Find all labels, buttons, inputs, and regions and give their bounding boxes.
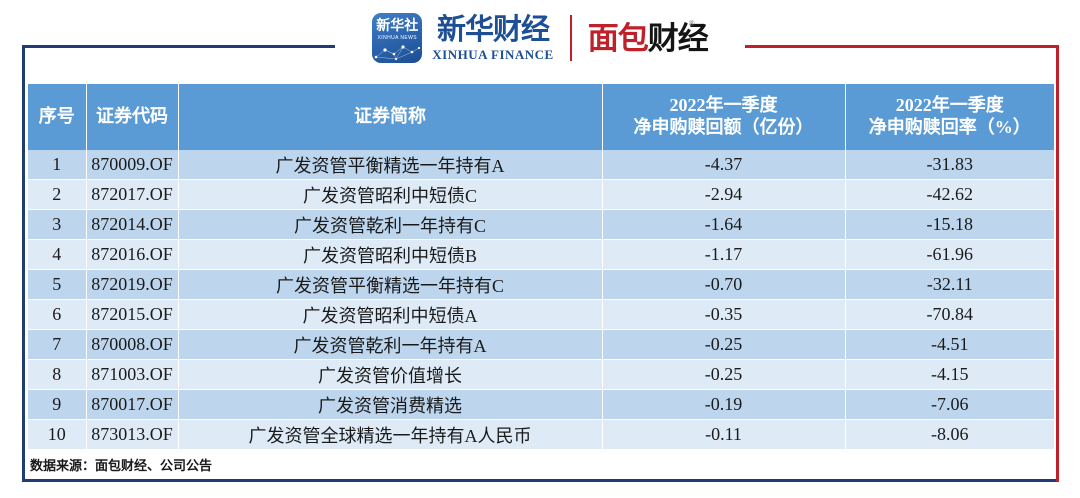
cell-code: 872019.OF — [86, 270, 178, 300]
table-row: 9 870017.OF 广发资管消费精选 -0.19 -7.06 — [28, 390, 1054, 420]
cell-amount: -4.37 — [602, 150, 845, 180]
cell-seq: 4 — [28, 240, 86, 270]
masthead: 新华社 XINHUA NEWS 新 — [335, 4, 745, 72]
cell-amount: -0.11 — [602, 420, 845, 450]
cell-amount: -0.19 — [602, 390, 845, 420]
table-header-row: 序号 证券代码 证券简称 2022年一季度 净申购赎回额（亿份） 2022年一季… — [28, 84, 1054, 150]
cell-amount: -1.17 — [602, 240, 845, 270]
cell-seq: 5 — [28, 270, 86, 300]
cell-seq: 8 — [28, 360, 86, 390]
column-header-rate-line1: 2022年一季度 — [848, 95, 1053, 117]
table-row: 10 873013.OF 广发资管全球精选一年持有A人民币 -0.11 -8.0… — [28, 420, 1054, 450]
mianbao-logo-black-label: 财经 — [648, 21, 708, 56]
xinhua-news-badge-icon: 新华社 XINHUA NEWS — [372, 13, 422, 63]
cell-name: 广发资管平衡精选一年持有C — [178, 270, 602, 300]
cell-rate: -31.83 — [845, 150, 1054, 180]
column-header-code: 证券代码 — [86, 84, 178, 150]
cell-rate: -8.06 — [845, 420, 1054, 450]
cell-amount: -0.35 — [602, 300, 845, 330]
cell-code: 872014.OF — [86, 210, 178, 240]
cell-amount: -0.70 — [602, 270, 845, 300]
frame-line-top-right — [744, 45, 1059, 48]
cell-name: 广发资管乾利一年持有C — [178, 210, 602, 240]
cell-code: 871003.OF — [86, 360, 178, 390]
xinhua-finance-en-label: XINHUA FINANCE — [432, 48, 553, 61]
table-row: 2 872017.OF 广发资管昭利中短债C -2.94 -42.62 — [28, 180, 1054, 210]
registered-mark-icon: ® — [689, 20, 694, 28]
column-header-name-line1: 证券简称 — [181, 106, 600, 128]
table-row: 4 872016.OF 广发资管昭利中短债B -1.17 -61.96 — [28, 240, 1054, 270]
cell-code: 870017.OF — [86, 390, 178, 420]
column-header-rate-line2: 净申购赎回率（%） — [848, 117, 1053, 139]
cell-seq: 7 — [28, 330, 86, 360]
table-row: 1 870009.OF 广发资管平衡精选一年持有A -4.37 -31.83 — [28, 150, 1054, 180]
data-source-footnote: 数据来源：面包财经、公司公告 — [30, 455, 212, 474]
frame-line-left — [22, 45, 25, 482]
cell-amount: -1.64 — [602, 210, 845, 240]
table-row: 3 872014.OF 广发资管乾利一年持有C -1.64 -15.18 — [28, 210, 1054, 240]
column-header-rate: 2022年一季度 净申购赎回率（%） — [845, 84, 1054, 150]
fund-redemption-table-wrap: 序号 证券代码 证券简称 2022年一季度 净申购赎回额（亿份） 2022年一季… — [28, 84, 1054, 450]
cell-name: 广发资管乾利一年持有A — [178, 330, 602, 360]
cell-amount: -0.25 — [602, 360, 845, 390]
cell-name: 广发资管平衡精选一年持有A — [178, 150, 602, 180]
cell-rate: -61.96 — [845, 240, 1054, 270]
cell-rate: -32.11 — [845, 270, 1054, 300]
column-header-amount-line1: 2022年一季度 — [605, 95, 843, 117]
cell-code: 870009.OF — [86, 150, 178, 180]
cell-code: 873013.OF — [86, 420, 178, 450]
cell-name: 广发资管昭利中短债A — [178, 300, 602, 330]
cell-seq: 9 — [28, 390, 86, 420]
table-row: 7 870008.OF 广发资管乾利一年持有A -0.25 -4.51 — [28, 330, 1054, 360]
cell-seq: 10 — [28, 420, 86, 450]
mianbao-logo-red-label: 面包 — [588, 21, 648, 56]
column-header-code-line1: 证券代码 — [89, 106, 176, 128]
cell-code: 872017.OF — [86, 180, 178, 210]
cell-code: 872016.OF — [86, 240, 178, 270]
xinhua-finance-logo: 新华财经 XINHUA FINANCE — [432, 16, 553, 61]
cell-amount: -2.94 — [602, 180, 845, 210]
cell-rate: -4.15 — [845, 360, 1054, 390]
cell-rate: -42.62 — [845, 180, 1054, 210]
cell-name: 广发资管昭利中短债C — [178, 180, 602, 210]
cell-code: 872015.OF — [86, 300, 178, 330]
frame-line-right — [1056, 45, 1059, 482]
table-head: 序号 证券代码 证券简称 2022年一季度 净申购赎回额（亿份） 2022年一季… — [28, 84, 1054, 150]
cell-name: 广发资管昭利中短债B — [178, 240, 602, 270]
cell-seq: 6 — [28, 300, 86, 330]
mianbao-finance-logo: 面包财经® — [588, 23, 708, 54]
column-header-name: 证券简称 — [178, 84, 602, 150]
cell-rate: -15.18 — [845, 210, 1054, 240]
column-header-amount-line2: 净申购赎回额（亿份） — [605, 117, 843, 139]
xinhua-badge-cn-label: 新华社 — [372, 20, 422, 34]
column-header-seq-line1: 序号 — [30, 106, 84, 128]
table-row: 5 872019.OF 广发资管平衡精选一年持有C -0.70 -32.11 — [28, 270, 1054, 300]
cell-name: 广发资管全球精选一年持有A人民币 — [178, 420, 602, 450]
column-header-amount: 2022年一季度 净申购赎回额（亿份） — [602, 84, 845, 150]
network-dots-icon — [372, 41, 422, 61]
cell-seq: 2 — [28, 180, 86, 210]
table-row: 6 872015.OF 广发资管昭利中短债A -0.35 -70.84 — [28, 300, 1054, 330]
frame-line-bottom — [22, 479, 1059, 482]
cell-name: 广发资管价值增长 — [178, 360, 602, 390]
table-row: 8 871003.OF 广发资管价值增长 -0.25 -4.15 — [28, 360, 1054, 390]
cell-rate: -4.51 — [845, 330, 1054, 360]
xinhua-finance-cn-label: 新华财经 — [432, 16, 553, 45]
cell-amount: -0.25 — [602, 330, 845, 360]
frame-line-top-left — [22, 45, 335, 48]
cell-rate: -70.84 — [845, 300, 1054, 330]
logo-divider — [570, 15, 572, 61]
table-body: 1 870009.OF 广发资管平衡精选一年持有A -4.37 -31.83 2… — [28, 150, 1054, 450]
cell-rate: -7.06 — [845, 390, 1054, 420]
cell-seq: 3 — [28, 210, 86, 240]
page-root: 新华社 XINHUA NEWS 新 — [0, 0, 1080, 498]
fund-redemption-table: 序号 证券代码 证券简称 2022年一季度 净申购赎回额（亿份） 2022年一季… — [28, 84, 1054, 450]
cell-name: 广发资管消费精选 — [178, 390, 602, 420]
cell-seq: 1 — [28, 150, 86, 180]
column-header-seq: 序号 — [28, 84, 86, 150]
cell-code: 870008.OF — [86, 330, 178, 360]
